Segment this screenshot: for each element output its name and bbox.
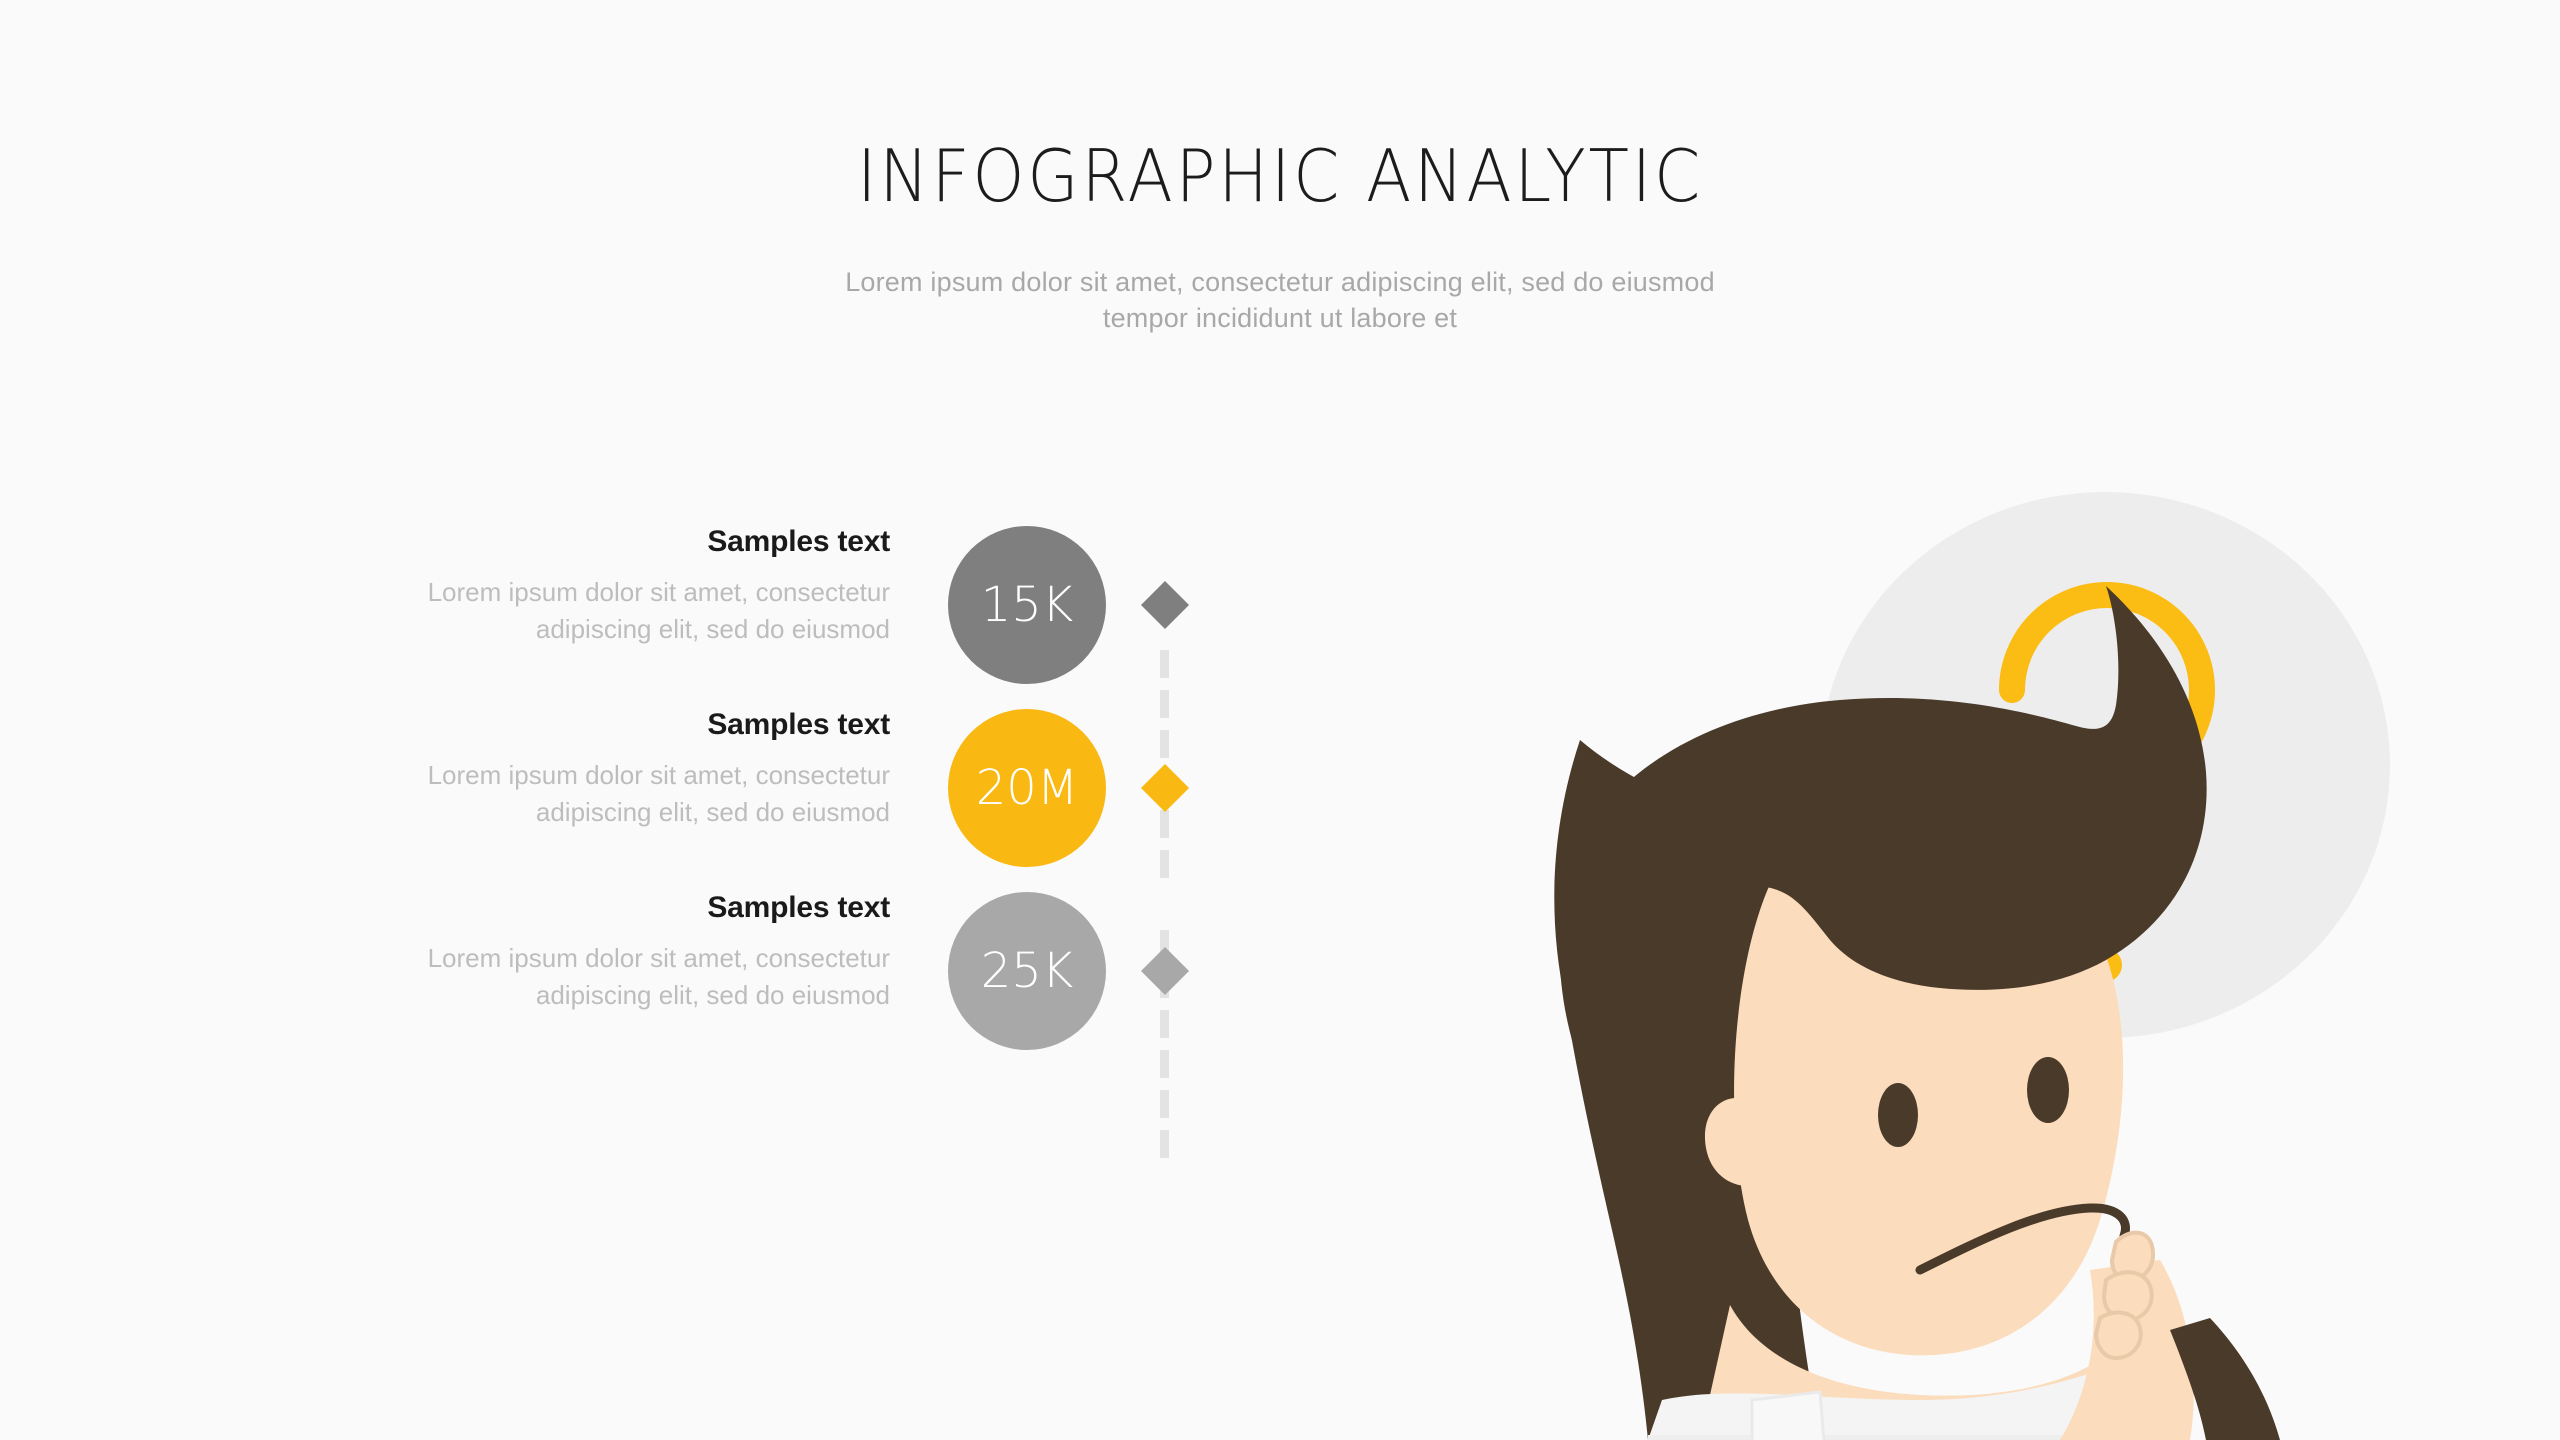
metric-text-block: Samples text Lorem ipsum dolor sit amet,… xyxy=(240,708,890,831)
metric-value: 15K xyxy=(981,581,1074,629)
metric-description: Lorem ipsum dolor sit amet, consectetur … xyxy=(240,940,890,1014)
infographic-slide: INFOGRAPHIC ANALYTIC Lorem ipsum dolor s… xyxy=(0,0,2560,1440)
metric-circle[interactable]: 25K xyxy=(948,892,1106,1050)
metric-description-line-1: Lorem ipsum dolor sit amet, consectetur xyxy=(240,757,890,794)
metric-circle[interactable]: 20M xyxy=(948,709,1106,867)
metric-description-line-2: adipiscing elit, sed do eiusmod xyxy=(240,611,890,648)
metric-heading: Samples text xyxy=(240,525,890,558)
metric-circle[interactable]: 15K xyxy=(948,526,1106,684)
metric-description: Lorem ipsum dolor sit amet, consectetur … xyxy=(240,757,890,831)
metric-description-line-2: adipiscing elit, sed do eiusmod xyxy=(240,794,890,831)
eye-right xyxy=(2027,1057,2069,1123)
metric-description-line-1: Lorem ipsum dolor sit amet, consectetur xyxy=(240,940,890,977)
metric-text-block: Samples text Lorem ipsum dolor sit amet,… xyxy=(240,891,890,1014)
metric-value: 25K xyxy=(981,947,1074,995)
diamond-marker-icon xyxy=(1141,764,1189,812)
illustration-thinking-man xyxy=(1400,400,2560,1440)
list-item[interactable]: Samples text Lorem ipsum dolor sit amet,… xyxy=(0,891,1240,1091)
metric-description-line-2: adipiscing elit, sed do eiusmod xyxy=(240,977,890,1014)
shirt-pocket xyxy=(1752,1392,1824,1440)
metrics-list: Samples text Lorem ipsum dolor sit amet,… xyxy=(0,0,1240,1440)
eye-left xyxy=(1878,1083,1918,1147)
metric-text-block: Samples text Lorem ipsum dolor sit amet,… xyxy=(240,525,890,648)
diamond-marker-icon xyxy=(1141,581,1189,629)
metric-value: 20M xyxy=(976,764,1079,812)
list-item[interactable]: Samples text Lorem ipsum dolor sit amet,… xyxy=(0,708,1240,908)
metric-heading: Samples text xyxy=(240,891,890,924)
metric-description: Lorem ipsum dolor sit amet, consectetur … xyxy=(240,574,890,648)
list-item[interactable]: Samples text Lorem ipsum dolor sit amet,… xyxy=(0,525,1240,725)
metric-description-line-1: Lorem ipsum dolor sit amet, consectetur xyxy=(240,574,890,611)
metric-heading: Samples text xyxy=(240,708,890,741)
diamond-marker-icon xyxy=(1141,947,1189,995)
